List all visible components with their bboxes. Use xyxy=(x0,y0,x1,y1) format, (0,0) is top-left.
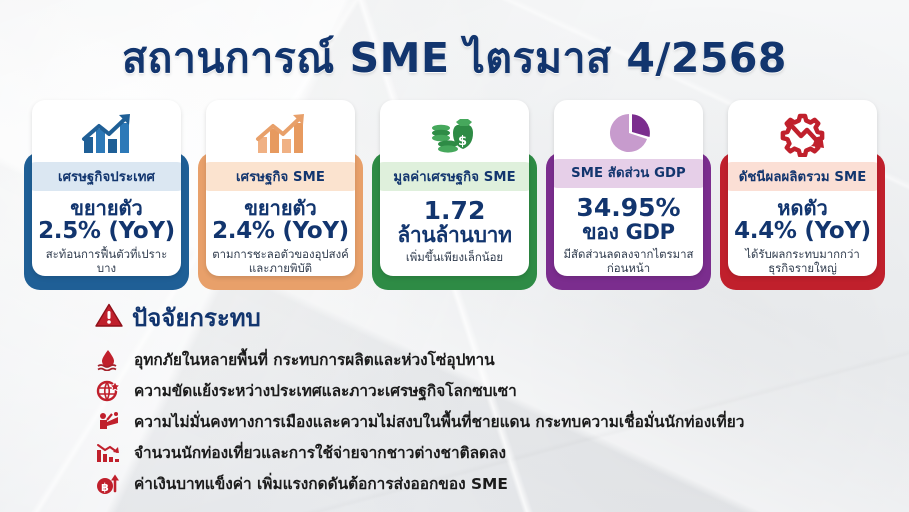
card-headline-line1: หดตัว xyxy=(734,198,871,219)
chart-down-icon xyxy=(95,441,121,465)
impact-factors-heading: ปัจจัยกระทบ xyxy=(95,298,744,337)
list-item-label: ความขัดแย้งระหว่างประเทศและภาวะเศรษฐกิจโ… xyxy=(134,378,517,403)
money-bag-icon: $ xyxy=(427,109,483,161)
protest-icon xyxy=(95,410,121,434)
impact-factors-title: ปัจจัยกระทบ xyxy=(132,298,261,337)
card-headline-line1: 34.95% xyxy=(576,195,680,221)
card-headline: 34.95% ของ GDP xyxy=(576,195,680,243)
card-body: เศรษฐกิจประเทศ ขยายตัว 2.5% (YoY) สะท้อน… xyxy=(32,100,181,276)
card-headline-line1: ขยายตัว xyxy=(38,198,175,219)
globe-conflict-icon xyxy=(95,379,121,403)
svg-text:฿: ฿ xyxy=(101,481,109,494)
list-item-label: จำนวนนักท่องเที่ยวและการใช้จ่ายจากชาวต่า… xyxy=(134,440,506,465)
card-headline: หดตัว 4.4% (YoY) xyxy=(734,198,871,243)
svg-text:$: $ xyxy=(457,134,466,149)
kpi-card-row: เศรษฐกิจประเทศ ขยายตัว 2.5% (YoY) สะท้อน… xyxy=(24,100,885,290)
card-body: ดัชนีผลผลิตรวม SME หดตัว 4.4% (YoY) ได้ร… xyxy=(728,100,877,276)
card-subtext: สะท้อนการฟื้นตัวที่เปราะบาง xyxy=(32,248,181,276)
baht-up-icon: ฿ xyxy=(95,472,121,496)
card-badge: ดัชนีผลผลิตรวม SME xyxy=(728,162,877,191)
list-item: จำนวนนักท่องเที่ยวและการใช้จ่ายจากชาวต่า… xyxy=(95,439,744,466)
card-badge: เศรษฐกิจประเทศ xyxy=(32,162,181,191)
impact-factors-list: อุทกภัยในหลายพื้นที่ กระทบการผลิตและห่วง… xyxy=(95,346,744,497)
list-item-label: อุทกภัยในหลายพื้นที่ กระทบการผลิตและห่วง… xyxy=(134,347,495,372)
card-headline: 1.72 ล้านล้านบาท xyxy=(397,198,511,246)
card-headline-line2: 4.4% (YoY) xyxy=(734,219,871,243)
kpi-card-sme-economy: เศรษฐกิจ SME ขยายตัว 2.4% (YoY) ตามการชะ… xyxy=(198,100,363,290)
page-title: สถานการณ์ SME ไตรมาส 4/2568 xyxy=(0,26,909,91)
card-body: SME สัดส่วน GDP 34.95% ของ GDP มีสัดส่วน… xyxy=(554,100,703,276)
card-headline-line1: ขยายตัว xyxy=(212,198,349,219)
card-body: เศรษฐกิจ SME ขยายตัว 2.4% (YoY) ตามการชะ… xyxy=(206,100,355,276)
card-subtext: มีสัดส่วนลดลงจากไตรมาสก่อนหน้า xyxy=(554,248,703,276)
card-subtext: ได้รับผลกระทบมากกว่าธุรกิจรายใหญ่ xyxy=(728,248,877,276)
kpi-card-sme-production-index: ดัชนีผลผลิตรวม SME หดตัว 4.4% (YoY) ได้ร… xyxy=(720,100,885,290)
kpi-card-sme-gdp-share: SME สัดส่วน GDP 34.95% ของ GDP มีสัดส่วน… xyxy=(546,100,711,290)
card-subtext: เพิ่มขึ้นเพียงเล็กน้อย xyxy=(401,251,508,265)
card-badge: เศรษฐกิจ SME xyxy=(206,162,355,191)
card-badge: SME สัดส่วน GDP xyxy=(554,159,703,188)
card-headline-line2: ล้านล้านบาท xyxy=(397,224,511,246)
infographic-page: สถานการณ์ SME ไตรมาส 4/2568 เศรษฐกิจประเ… xyxy=(0,0,909,512)
list-item: ความไม่มั่นคงทางการเมืองและความไม่สงบในพ… xyxy=(95,408,744,435)
bar-chart-up-icon xyxy=(79,109,135,161)
list-item-label: ค่าเงินบาทแข็งค่า เพิ่มแรงกดดันต้อการส่ง… xyxy=(134,471,508,496)
gear-down-arrow-icon xyxy=(777,109,829,161)
list-item-label: ความไม่มั่นคงทางการเมืองและความไม่สงบในพ… xyxy=(134,409,744,434)
pie-chart-icon xyxy=(603,109,655,158)
impact-factors-section: ปัจจัยกระทบ อุทกภัยในหลายพื้นที่ กระทบกา… xyxy=(95,298,744,497)
card-headline-line2: 2.4% (YoY) xyxy=(212,219,349,243)
card-headline-line2: ของ GDP xyxy=(576,221,680,243)
kpi-card-national-economy: เศรษฐกิจประเทศ ขยายตัว 2.5% (YoY) สะท้อน… xyxy=(24,100,189,290)
list-item: อุทกภัยในหลายพื้นที่ กระทบการผลิตและห่วง… xyxy=(95,346,744,373)
flood-drop-icon xyxy=(95,348,121,372)
card-body: $ มูลค่าเศรษฐกิจ SME 1.72 ล้านล้านบาท เพ… xyxy=(380,100,529,276)
kpi-card-sme-value: $ มูลค่าเศรษฐกิจ SME 1.72 ล้านล้านบาท เพ… xyxy=(372,100,537,290)
list-item: ฿ ค่าเงินบาทแข็งค่า เพิ่มแรงกดดันต้อการส… xyxy=(95,470,744,497)
list-item: ความขัดแย้งระหว่างประเทศและภาวะเศรษฐกิจโ… xyxy=(95,377,744,404)
card-badge: มูลค่าเศรษฐกิจ SME xyxy=(380,162,529,191)
card-headline: ขยายตัว 2.4% (YoY) xyxy=(212,198,349,243)
card-headline-line2: 2.5% (YoY) xyxy=(38,219,175,243)
card-subtext: ตามการชะลอตัวของอุปสงค์และภายพิบัติ xyxy=(206,248,355,276)
card-headline-line1: 1.72 xyxy=(397,198,511,224)
bar-chart-up-icon xyxy=(253,109,309,161)
card-headline: ขยายตัว 2.5% (YoY) xyxy=(38,198,175,243)
warning-triangle-icon xyxy=(95,303,123,332)
